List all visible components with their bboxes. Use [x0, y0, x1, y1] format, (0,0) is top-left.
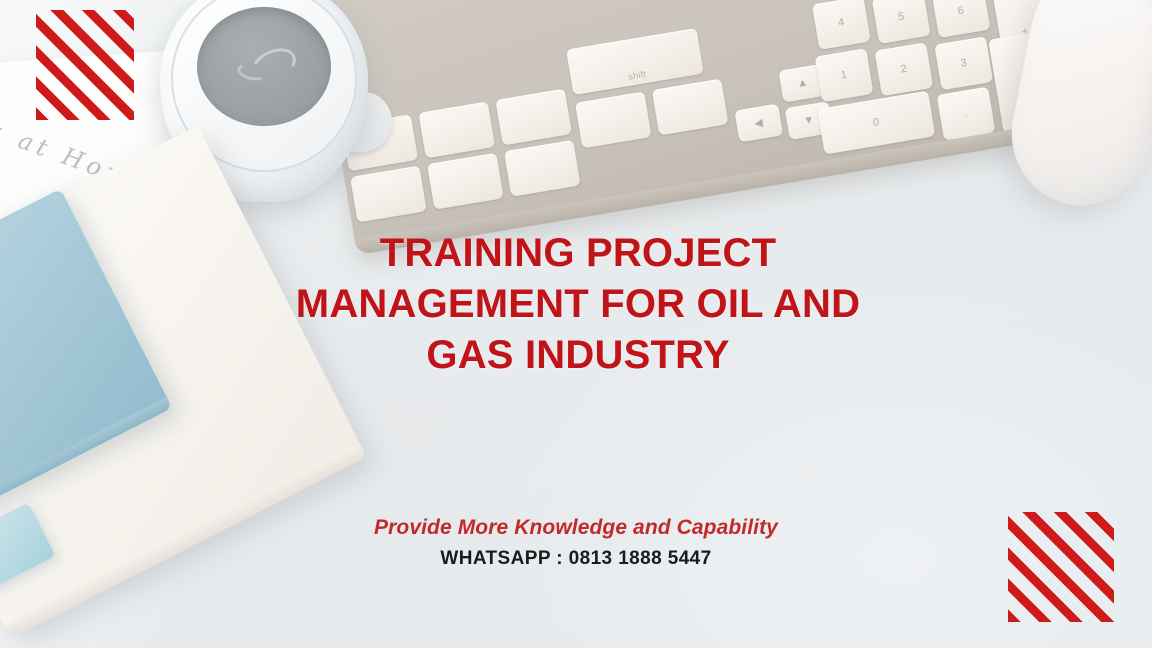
arrow-left-icon: ◀ — [736, 113, 782, 133]
numpad-label: 3 — [937, 53, 990, 73]
stripe-block-top-left — [36, 10, 134, 120]
banner-canvas: Work at Home shift ◀ ▲ ▼ ▶ 7 — [0, 0, 1152, 648]
numpad-label: 6 — [934, 1, 987, 21]
page-title: TRAINING PROJECT MANAGEMENT FOR OIL AND … — [258, 228, 898, 382]
mug-liquid — [197, 7, 331, 126]
numpad-label: 1 — [817, 65, 870, 85]
keyboard-numpad-key: 2 — [874, 42, 933, 96]
numpad-label: 0 — [820, 107, 932, 137]
numpad-label: 4 — [815, 13, 868, 33]
tagline: Provide More Knowledge and Capability — [256, 514, 896, 542]
numpad-label: . — [939, 103, 992, 123]
keyboard-numpad-key: 3 — [934, 36, 993, 90]
stripe-block-bottom-right — [1008, 512, 1114, 622]
contact-whatsapp: WHATSAPP : 0813 1888 5447 — [256, 546, 896, 572]
numpad-label: 5 — [875, 7, 928, 27]
numpad-label: 2 — [877, 59, 930, 79]
keyboard-numpad-key: 1 — [815, 48, 874, 102]
keyboard-numpad-key: 4 — [812, 0, 871, 50]
footer-block: Provide More Knowledge and Capability WH… — [256, 514, 896, 572]
